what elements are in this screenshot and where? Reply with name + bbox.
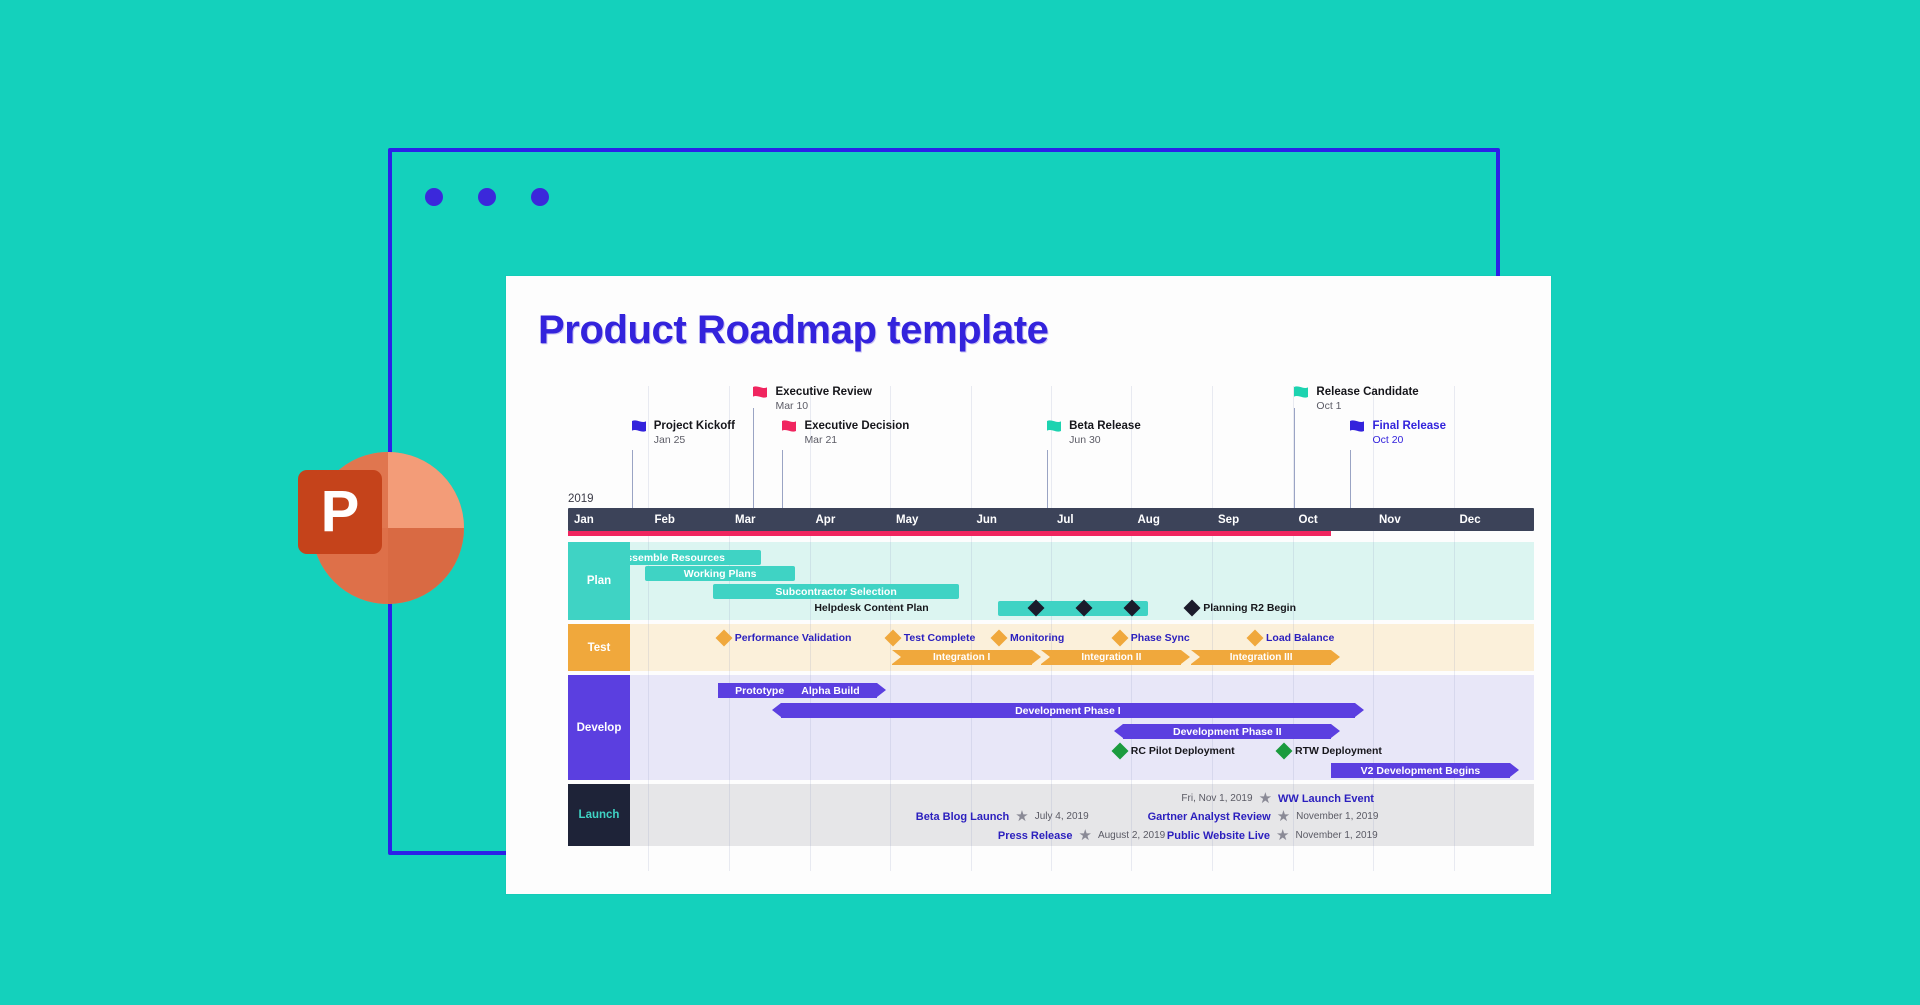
diamond-icon — [715, 630, 732, 647]
launch-milestone-date: November 1, 2019 — [1295, 830, 1377, 841]
gantt-bar-label: Subcontractor Selection — [775, 586, 896, 598]
diamond-icon — [884, 630, 901, 647]
powerpoint-square: P — [298, 470, 382, 554]
screenshot-root: P Product Roadmap template 2019 Project … — [0, 0, 1920, 1005]
launch-milestone-date: November 1, 2019 — [1296, 811, 1378, 822]
diamond-label: Planning R2 Begin — [1203, 602, 1296, 614]
launch-milestone[interactable]: Beta Blog Launch★July 4, 2019 — [916, 809, 1089, 824]
launch-milestone-name: Beta Blog Launch — [916, 811, 1010, 823]
gantt-bar-label: Development Phase II — [1173, 726, 1282, 738]
lane-gridline — [971, 675, 972, 780]
gantt-bar-label: Assemble Resources — [619, 552, 725, 564]
gantt-chart: 2019 Project KickoffJan 25Executive Revi… — [568, 386, 1534, 871]
gantt-milestone-diamond[interactable] — [1126, 602, 1138, 614]
swimlane-test: TestIntegration IIntegration IIIntegrati… — [568, 624, 1534, 671]
page-title: Product Roadmap template — [538, 308, 1048, 353]
milestone-text: Executive DecisionMar 21 — [804, 420, 909, 446]
swimlane-body-develop: Prototype Alpha BuildDevelopment Phase I… — [630, 675, 1534, 780]
diamond-icon — [1076, 600, 1093, 617]
gantt-bar[interactable]: Prototype Alpha Build — [718, 683, 877, 698]
star-icon: ★ — [1078, 828, 1091, 843]
lane-gridline — [1454, 624, 1455, 671]
swimlane-body-test: Integration IIntegration IIIntegration I… — [630, 624, 1534, 671]
lane-gridline — [648, 784, 649, 846]
milestone-name: Executive Review — [775, 386, 872, 400]
milestone-flag-0[interactable]: Project KickoffJan 25 — [632, 386, 633, 508]
swimlane-label-develop[interactable]: Develop — [568, 675, 630, 780]
diamond-icon — [991, 630, 1008, 647]
diamond-label: RTW Deployment — [1295, 745, 1382, 757]
diamond-label: Monitoring — [1010, 632, 1064, 644]
year-label: 2019 — [568, 493, 594, 505]
gantt-bar-label: Development Phase I — [1015, 705, 1121, 717]
gantt-chevron-label: Integration II — [1081, 652, 1141, 663]
gantt-milestone-diamond[interactable]: Monitoring — [993, 632, 1064, 644]
launch-milestone-name: Press Release — [998, 830, 1073, 842]
diamond-icon — [1247, 630, 1264, 647]
swimlane-develop: DevelopPrototype Alpha BuildDevelopment … — [568, 675, 1534, 780]
axis-month-mar: Mar — [729, 508, 809, 531]
star-icon: ★ — [1276, 828, 1289, 843]
lane-gridline — [890, 784, 891, 846]
diamond-label: RC Pilot Deployment — [1131, 745, 1235, 757]
milestone-flag-4[interactable]: Release CandidateOct 1 — [1294, 386, 1295, 508]
gantt-bar-label: Working Plans — [684, 568, 757, 580]
milestone-stem — [632, 450, 633, 508]
milestone-text: Release CandidateOct 1 — [1316, 386, 1418, 412]
gantt-chevron-label: Integration III — [1230, 652, 1293, 663]
gantt-milestone-diamond[interactable]: Load Balance — [1249, 632, 1334, 644]
gantt-milestone-diamond[interactable] — [1030, 602, 1042, 614]
flag-icon — [1294, 386, 1313, 401]
milestone-stem — [1350, 450, 1351, 508]
lane-gridline — [810, 784, 811, 846]
axis-month-sep: Sep — [1212, 508, 1292, 531]
lane-gridline — [1051, 675, 1052, 780]
milestone-date: Jan 25 — [654, 434, 735, 447]
axis-month-apr: Apr — [810, 508, 890, 531]
gantt-bar[interactable]: Development Phase I — [781, 703, 1356, 718]
star-icon: ★ — [1259, 791, 1272, 806]
gantt-milestone-diamond[interactable] — [1078, 602, 1090, 614]
launch-milestone-date: Fri, Nov 1, 2019 — [1181, 793, 1252, 804]
milestone-name: Beta Release — [1069, 420, 1141, 434]
milestone-text: Final ReleaseOct 20 — [1372, 420, 1446, 446]
swimlane-body-launch: Fri, Nov 1, 2019★WW Launch EventBeta Blo… — [630, 784, 1534, 846]
diamond-icon — [1276, 743, 1293, 760]
lane-gridline — [1373, 542, 1374, 620]
gantt-milestone-diamond[interactable]: Test Complete — [887, 632, 976, 644]
milestone-name: Project Kickoff — [654, 420, 735, 434]
axis-month-aug: Aug — [1131, 508, 1212, 531]
axis-month-feb: Feb — [648, 508, 729, 531]
flag-icon — [782, 420, 801, 435]
launch-milestone-date: August 2, 2019 — [1098, 830, 1165, 841]
star-icon: ★ — [1277, 809, 1290, 824]
lane-gridline — [1454, 784, 1455, 846]
axis-month-oct: Oct — [1293, 508, 1373, 531]
timeline-axis: JanFebMarAprMayJunJulAugSepOctNovDec — [568, 508, 1534, 531]
gantt-milestone-diamond[interactable]: Planning R2 Begin — [1186, 602, 1296, 614]
flag-icon — [1047, 420, 1066, 435]
flag-icon — [753, 386, 772, 401]
launch-milestone[interactable]: Press Release★August 2, 2019 — [998, 828, 1165, 843]
lane-gridline — [648, 675, 649, 780]
gantt-milestone-diamond[interactable]: RC Pilot Deployment — [1114, 745, 1235, 757]
diamond-icon — [1184, 600, 1201, 617]
axis-month-jan: Jan — [568, 508, 648, 531]
axis-month-dec: Dec — [1454, 508, 1534, 531]
gantt-bar[interactable]: Subcontractor Selection — [713, 584, 959, 599]
swimlane-launch: LaunchFri, Nov 1, 2019★WW Launch EventBe… — [568, 784, 1534, 846]
milestone-name: Executive Decision — [804, 420, 909, 434]
lane-gridline — [971, 542, 972, 620]
window-dot-1[interactable] — [425, 188, 443, 206]
launch-milestone[interactable]: Fri, Nov 1, 2019★WW Launch Event — [1181, 791, 1374, 806]
milestone-date: Mar 10 — [775, 400, 872, 413]
milestone-date: Mar 21 — [804, 434, 909, 447]
launch-milestone[interactable]: Public Website Live★November 1, 2019 — [1167, 828, 1378, 843]
gantt-chevron[interactable]: Integration II — [1041, 650, 1181, 665]
gantt-bar-label: V2 Development Begins — [1361, 765, 1481, 777]
diamond-icon — [1124, 600, 1141, 617]
launch-milestone[interactable]: Gartner Analyst Review★November 1, 2019 — [1148, 809, 1379, 824]
powerpoint-letter: P — [321, 483, 360, 541]
milestone-flag-5[interactable]: Final ReleaseOct 20 — [1350, 386, 1351, 508]
milestone-date: Oct 1 — [1316, 400, 1418, 413]
milestone-name: Final Release — [1372, 420, 1446, 434]
milestone-stem — [1047, 450, 1048, 508]
gantt-chevron[interactable]: Integration III — [1191, 650, 1331, 665]
milestone-flag-2[interactable]: Executive DecisionMar 21 — [782, 386, 783, 508]
window-dot-3[interactable] — [531, 188, 549, 206]
launch-milestone-name: Gartner Analyst Review — [1148, 811, 1271, 823]
diamond-icon — [1027, 600, 1044, 617]
milestone-date: Oct 20 — [1372, 434, 1446, 447]
gantt-milestone-diamond[interactable]: RTW Deployment — [1278, 745, 1382, 757]
swimlane-label-test[interactable]: Test — [568, 624, 630, 671]
timeline-progress-bar — [568, 531, 1331, 536]
diamond-icon — [1111, 743, 1128, 760]
milestone-text: Beta ReleaseJun 30 — [1069, 420, 1141, 446]
swimlane-label-launch[interactable]: Launch — [568, 784, 630, 846]
lane-gridline — [810, 542, 811, 620]
diamond-icon — [1111, 630, 1128, 647]
axis-month-may: May — [890, 508, 971, 531]
axis-month-nov: Nov — [1373, 508, 1454, 531]
swimlane-label-plan[interactable]: Plan — [568, 542, 630, 620]
swimlane-plan: PlanAssemble ResourcesWorking PlansSubco… — [568, 542, 1534, 620]
gantt-bar[interactable]: V2 Development Begins — [1331, 763, 1510, 778]
lane-gridline — [648, 624, 649, 671]
milestone-text: Executive ReviewMar 10 — [775, 386, 872, 412]
lane-gridline — [890, 675, 891, 780]
milestone-flag-3[interactable]: Beta ReleaseJun 30 — [1047, 386, 1048, 508]
launch-milestone-name: WW Launch Event — [1278, 793, 1374, 805]
gantt-milestone-diamond[interactable]: Performance Validation — [718, 632, 852, 644]
powerpoint-icon: P — [312, 452, 464, 604]
flag-icon — [632, 420, 651, 435]
milestone-name: Release Candidate — [1316, 386, 1418, 400]
milestone-stem — [753, 408, 754, 508]
window-dot-2[interactable] — [478, 188, 496, 206]
milestone-flag-1[interactable]: Executive ReviewMar 10 — [753, 386, 754, 508]
lane-gridline — [729, 784, 730, 846]
gantt-bar[interactable]: Development Phase II — [1123, 724, 1331, 739]
lane-gridline — [1373, 624, 1374, 671]
gantt-text-label: Helpdesk Content Plan — [814, 602, 928, 614]
star-icon: ★ — [1015, 809, 1028, 824]
slide-card: Product Roadmap template 2019 Project Ki… — [506, 276, 1551, 894]
milestone-text: Project KickoffJan 25 — [654, 420, 735, 446]
diamond-label: Phase Sync — [1131, 632, 1190, 644]
milestone-stem — [1294, 408, 1295, 508]
diamond-label: Load Balance — [1266, 632, 1334, 644]
gantt-milestone-diamond[interactable]: Phase Sync — [1114, 632, 1190, 644]
milestone-date: Jun 30 — [1069, 434, 1141, 447]
launch-milestone-name: Public Website Live — [1167, 830, 1270, 842]
lane-gridline — [1454, 542, 1455, 620]
gantt-chevron[interactable]: Integration I — [892, 650, 1032, 665]
milestone-flags: 2019 Project KickoffJan 25Executive Revi… — [568, 386, 1534, 508]
launch-milestone-date: July 4, 2019 — [1035, 811, 1089, 822]
axis-month-jun: Jun — [971, 508, 1051, 531]
diamond-label: Test Complete — [904, 632, 976, 644]
gantt-chevron-label: Integration I — [933, 652, 990, 663]
gantt-bar-label: Prototype Alpha Build — [735, 685, 859, 697]
milestone-stem — [782, 450, 783, 508]
axis-month-jul: Jul — [1051, 508, 1131, 531]
swimlane-body-plan: Assemble ResourcesWorking PlansSubcontra… — [630, 542, 1534, 620]
flag-icon — [1350, 420, 1369, 435]
gantt-bar[interactable]: Working Plans — [645, 566, 795, 581]
swimlanes: PlanAssemble ResourcesWorking PlansSubco… — [568, 542, 1534, 850]
diamond-label: Performance Validation — [735, 632, 852, 644]
